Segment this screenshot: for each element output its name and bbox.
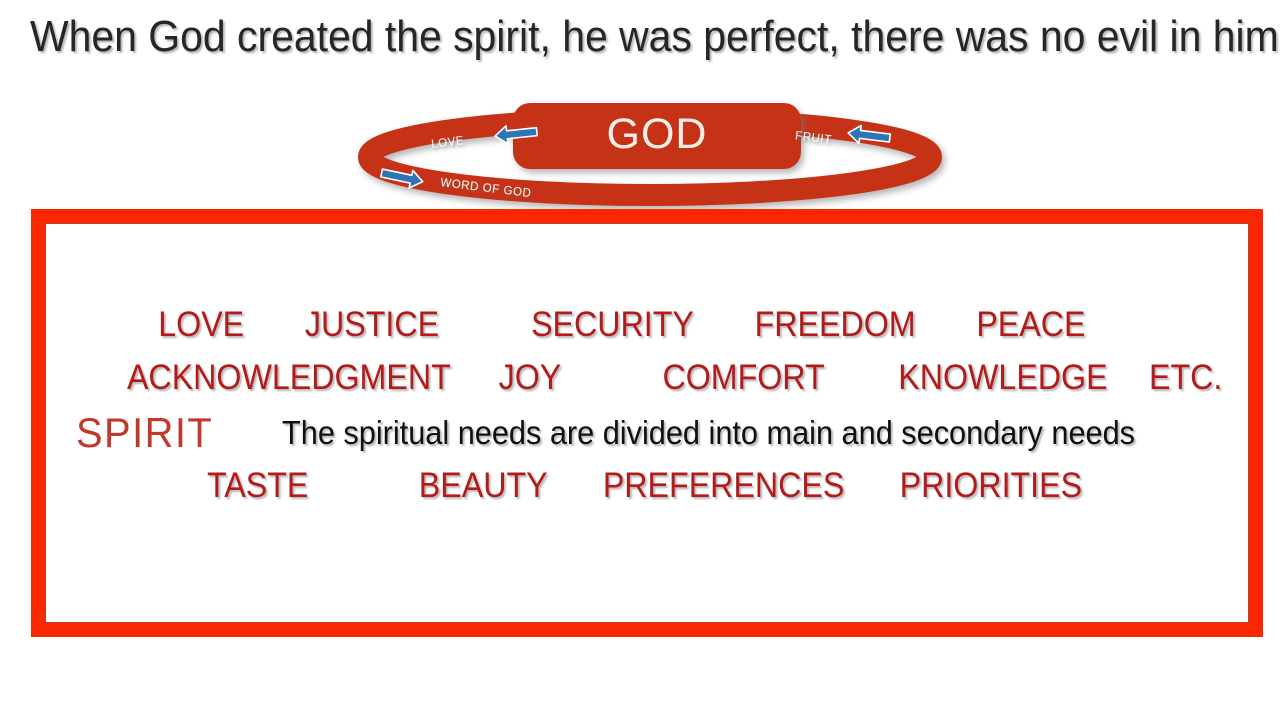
spirit-panel: LOVEJUSTICESECURITYFREEDOMPEACE ACKNOWLE…	[31, 209, 1263, 637]
need-word: ACKNOWLEDGMENT	[127, 355, 451, 401]
need-word: JOY	[499, 355, 562, 401]
need-word: PRIORITIES	[900, 463, 1083, 509]
need-word: BEAUTY	[419, 463, 548, 509]
need-word: COMFORT	[662, 355, 824, 401]
need-word: KNOWLEDGE	[898, 355, 1107, 401]
god-cycle-diagram: GOD LOVE FRUIT WORD OF GOD	[355, 95, 955, 213]
need-word: TASTE	[207, 463, 308, 509]
needs-row-tertiary: TASTEBEAUTYPREFERENCESPRIORITIES	[46, 463, 1280, 509]
need-word: PREFERENCES	[603, 463, 845, 509]
spirit-sentence: The spiritual needs are divided into mai…	[282, 407, 1135, 459]
god-box-label: GOD	[607, 110, 708, 158]
need-word: PEACE	[976, 302, 1085, 348]
need-word: LOVE	[158, 302, 244, 348]
need-word: JUSTICE	[305, 302, 439, 348]
need-word: ETC.	[1149, 355, 1222, 401]
needs-row-secondary: ACKNOWLEDGMENTJOYCOMFORTKNOWLEDGEETC.	[46, 355, 1233, 401]
need-word: FREEDOM	[755, 302, 916, 348]
needs-row-primary: LOVEJUSTICESECURITYFREEDOMPEACE	[46, 302, 1264, 348]
spirit-panel-inner: LOVEJUSTICESECURITYFREEDOMPEACE ACKNOWLE…	[45, 223, 1249, 623]
need-word: SECURITY	[531, 302, 694, 348]
slide-title: When God created the spirit, he was perf…	[30, 8, 1183, 70]
spirit-label: SPIRIT	[76, 407, 213, 459]
spirit-statement-row: SPIRITThe spiritual needs are divided in…	[46, 407, 1248, 459]
